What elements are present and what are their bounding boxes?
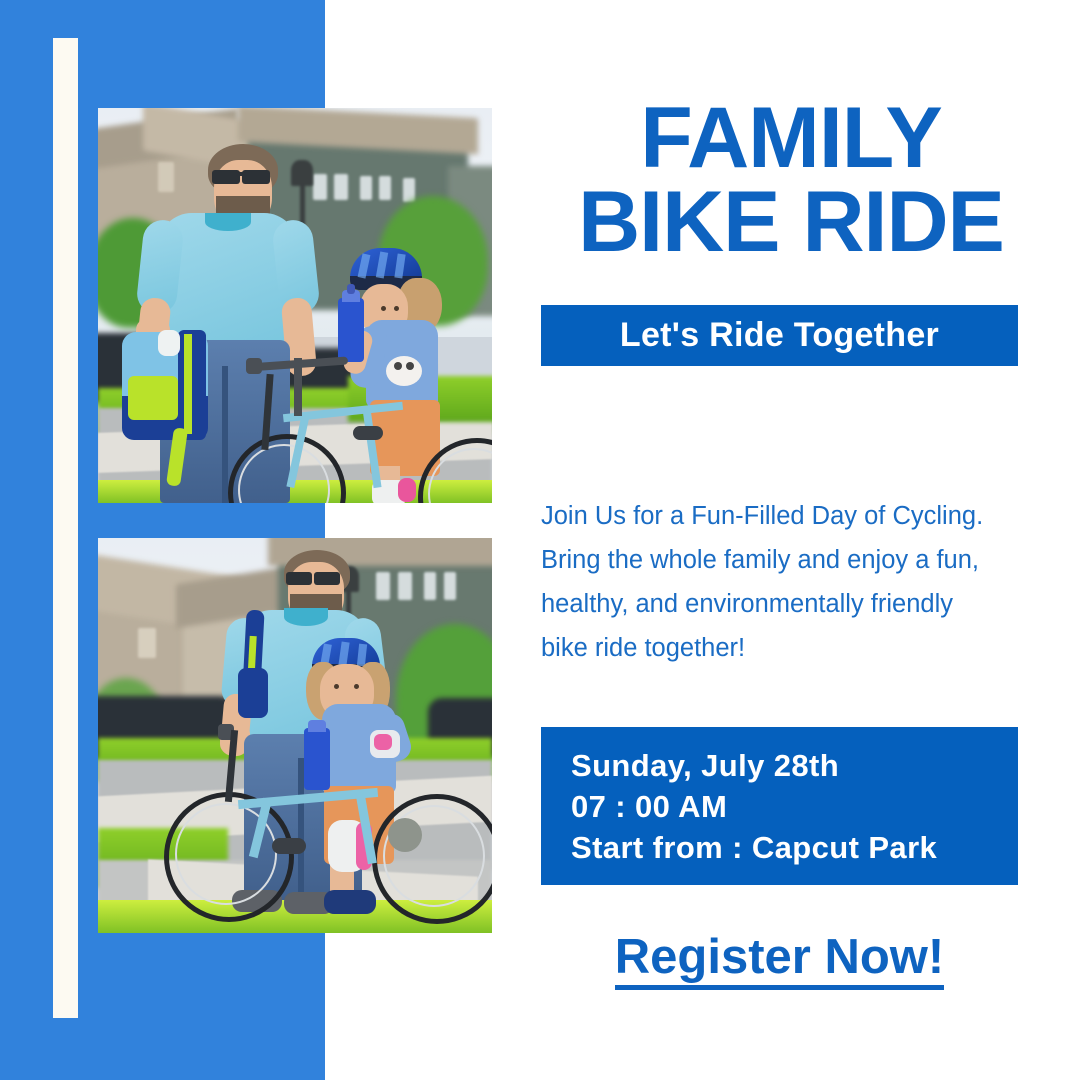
description-line-2: Bring the whole family and enjoy a fun,: [541, 538, 1041, 582]
photo-top: [98, 108, 492, 503]
cream-vertical-stripe: [53, 38, 78, 1018]
photo-bottom: [98, 538, 492, 933]
title-line-2: BIKE RIDE: [541, 180, 1041, 264]
event-details-box: Sunday, July 28th 07 : 00 AM Start from …: [541, 727, 1018, 885]
subtitle-banner-text: Let's Ride Together: [620, 316, 939, 355]
event-date: Sunday, July 28th: [571, 745, 1018, 786]
register-cta[interactable]: Register Now!: [541, 932, 1018, 990]
register-cta-label[interactable]: Register Now!: [615, 932, 944, 990]
title-line-1: FAMILY: [541, 96, 1041, 180]
subtitle-banner: Let's Ride Together: [541, 305, 1018, 366]
poster-canvas: FAMILY BIKE RIDE Let's Ride Together Joi…: [0, 0, 1080, 1080]
event-time: 07 : 00 AM: [571, 786, 1018, 827]
event-location: Start from : Capcut Park: [571, 827, 1018, 868]
description-line-1: Join Us for a Fun-Filled Day of Cycling.: [541, 494, 1041, 538]
description-line-4: bike ride together!: [541, 626, 1041, 670]
page-title: FAMILY BIKE RIDE: [541, 96, 1041, 265]
description-line-3: healthy, and environmentally friendly: [541, 582, 1041, 626]
description-paragraph: Join Us for a Fun-Filled Day of Cycling.…: [541, 494, 1041, 670]
